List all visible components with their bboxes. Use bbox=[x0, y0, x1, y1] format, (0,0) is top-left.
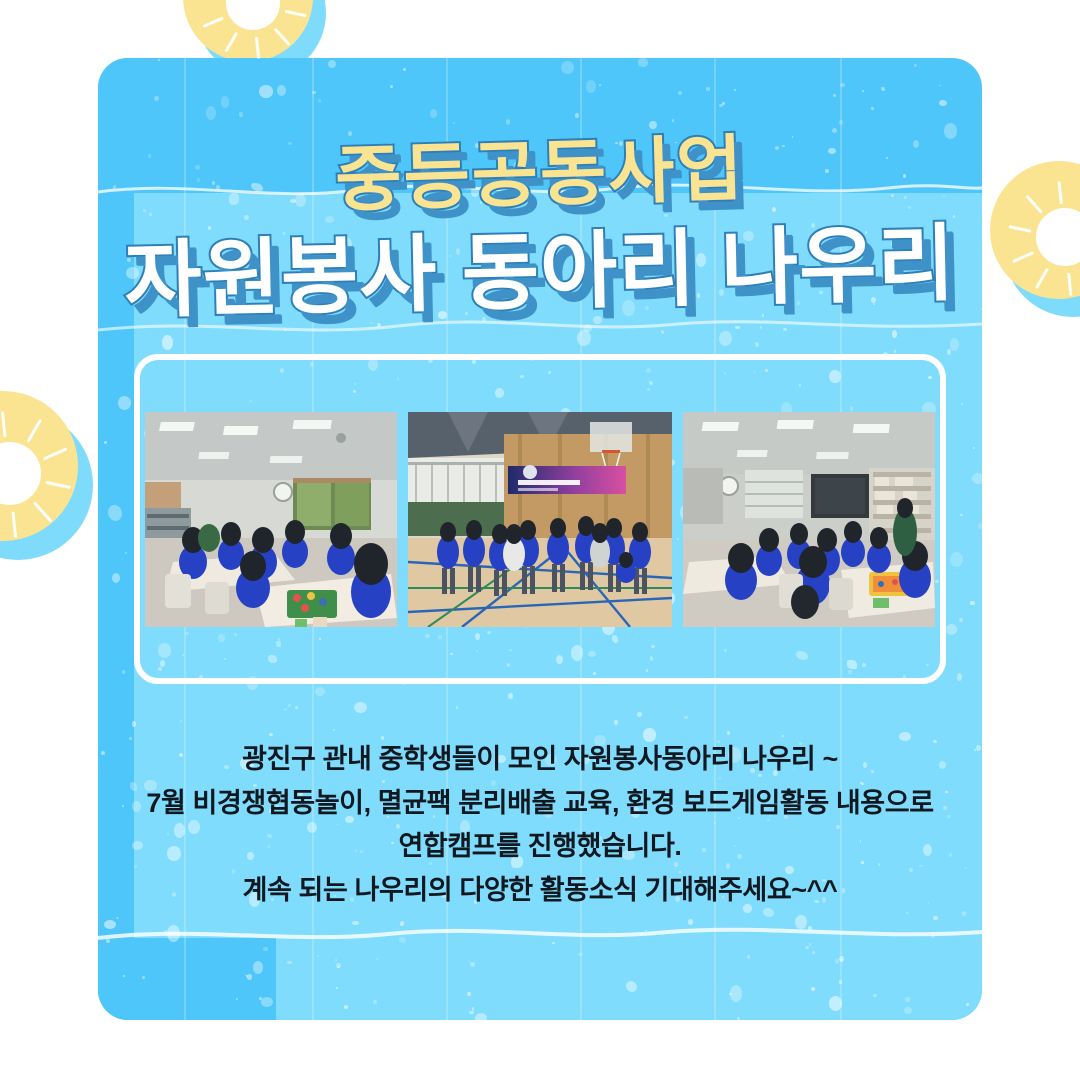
foam-bubble bbox=[284, 708, 287, 711]
swim-ring-right bbox=[996, 168, 1080, 306]
foam-bubble bbox=[970, 601, 975, 605]
body-line-1: 광진구 관내 중학생들이 모인 자원봉사동아리 나우리 ~ bbox=[98, 738, 982, 782]
foam-bubble bbox=[727, 731, 730, 735]
foam-bubble bbox=[318, 99, 321, 103]
foam-bubble bbox=[871, 107, 875, 110]
body-line-2: 7월 비경쟁협동놀이, 멸균팩 분리배출 교육, 환경 보드게임활동 내용으로 bbox=[98, 782, 982, 826]
foam-bubble bbox=[336, 963, 340, 968]
foam-bubble bbox=[782, 735, 784, 737]
foam-bubble bbox=[973, 447, 975, 450]
foam-bubble bbox=[904, 1007, 912, 1015]
foam-bubble bbox=[108, 505, 122, 521]
foam-bubble bbox=[456, 706, 458, 708]
foam-bubble bbox=[335, 959, 337, 961]
foam-bubble bbox=[678, 91, 682, 95]
foam-bubble bbox=[706, 87, 709, 90]
foam-bubble bbox=[829, 996, 842, 1011]
foam-bubble bbox=[737, 1017, 739, 1020]
swim-ring-left bbox=[0, 398, 84, 548]
foam-bubble bbox=[939, 100, 947, 107]
poster-title-line-1: 중등공동사업 bbox=[98, 126, 982, 226]
water-wave-line-bottom bbox=[98, 914, 982, 954]
foam-bubble bbox=[978, 523, 982, 529]
foam-bubble bbox=[719, 104, 723, 107]
foam-bubble bbox=[328, 60, 336, 68]
foam-bubble bbox=[390, 85, 393, 88]
foam-bubble bbox=[467, 992, 471, 996]
photo-2-illustration bbox=[408, 412, 672, 627]
foam-bubble bbox=[561, 61, 574, 74]
foam-bubble bbox=[403, 68, 406, 71]
photo-gallery-frame bbox=[134, 354, 946, 684]
foam-bubble bbox=[730, 985, 743, 1002]
foam-bubble bbox=[684, 716, 688, 719]
foam-bubble bbox=[269, 733, 273, 736]
photo-3-illustration bbox=[683, 412, 935, 627]
foam-bubble bbox=[939, 85, 941, 86]
foam-bubble bbox=[956, 573, 958, 575]
foam-bubble bbox=[287, 961, 292, 965]
foam-bubble bbox=[960, 514, 962, 517]
foam-bubble bbox=[638, 58, 648, 66]
foam-bubble bbox=[253, 961, 264, 974]
foam-bubble bbox=[158, 59, 160, 62]
foam-bubble bbox=[775, 970, 777, 972]
foam-bubble bbox=[508, 693, 513, 699]
foam-bubble bbox=[905, 997, 910, 1001]
foam-bubble bbox=[277, 85, 286, 96]
photo-1-illustration bbox=[145, 412, 397, 627]
foam-bubble bbox=[315, 687, 325, 696]
foam-bubble bbox=[469, 1011, 474, 1015]
foam-bubble bbox=[344, 1005, 348, 1009]
photo-row bbox=[140, 360, 940, 678]
body-line-4: 계속 되는 나우리의 다양한 활동소식 기대해주세요~^^ bbox=[98, 869, 982, 913]
foam-bubble bbox=[259, 85, 273, 97]
foam-bubble bbox=[599, 84, 601, 86]
foam-bubble bbox=[239, 112, 242, 116]
foam-bubble bbox=[637, 712, 642, 717]
foam-bubble bbox=[221, 96, 230, 108]
foam-bubble bbox=[475, 1013, 487, 1020]
foam-bubble bbox=[142, 976, 145, 979]
foam-bubble bbox=[946, 624, 957, 634]
foam-bubble bbox=[950, 552, 963, 568]
foam-bubble bbox=[472, 1007, 475, 1011]
foam-bubble bbox=[132, 721, 137, 727]
foam-bubble bbox=[453, 122, 455, 125]
foam-bubble bbox=[862, 90, 864, 92]
foam-bubble bbox=[649, 121, 657, 130]
foam-bubble bbox=[959, 618, 963, 622]
foam-bubble bbox=[430, 109, 438, 118]
foam-bubble bbox=[894, 350, 896, 353]
foam-bubble bbox=[373, 1000, 377, 1004]
foam-bubble bbox=[833, 94, 836, 97]
foam-bubble bbox=[336, 987, 338, 989]
foam-bubble bbox=[125, 552, 127, 554]
foam-bubble bbox=[672, 119, 675, 122]
foam-bubble bbox=[811, 987, 815, 991]
poster-root: 중등공동사업 자원봉사 동아리 나우리 bbox=[0, 0, 1080, 1080]
foam-bubble bbox=[961, 403, 963, 405]
foam-bubble bbox=[957, 673, 962, 680]
poster-title-line-2: 자원봉사 동아리 나우리 bbox=[98, 218, 982, 325]
foam-bubble bbox=[236, 998, 238, 1000]
foam-bubble bbox=[317, 955, 319, 957]
foam-bubble bbox=[914, 64, 917, 66]
body-line-3: 연합캠프를 진행했습니다. bbox=[98, 825, 982, 869]
photo-gym-cooperative-play[interactable] bbox=[408, 412, 672, 627]
foam-bubble bbox=[839, 980, 842, 983]
foam-bubble bbox=[123, 975, 125, 978]
foam-bubble bbox=[839, 956, 843, 962]
foam-bubble bbox=[972, 473, 982, 484]
foam-bubble bbox=[261, 997, 273, 1006]
foam-bubble bbox=[354, 702, 367, 713]
foam-bubble bbox=[881, 87, 884, 91]
photo-classroom-boardgame[interactable] bbox=[683, 412, 935, 627]
foam-bubble bbox=[206, 106, 216, 120]
foam-bubble bbox=[122, 670, 125, 675]
foam-bubble bbox=[734, 89, 736, 91]
poster-card: 중등공동사업 자원봉사 동아리 나우리 bbox=[98, 58, 982, 1020]
foam-bubble bbox=[180, 720, 182, 722]
foam-bubble bbox=[376, 958, 378, 960]
photo-library-boardgame[interactable] bbox=[145, 412, 397, 627]
foam-bubble bbox=[112, 573, 120, 583]
poster-body-text: 광진구 관내 중학생들이 모인 자원봉사동아리 나우리 ~ 7월 비경쟁협동놀이… bbox=[98, 738, 982, 913]
foam-bubble bbox=[118, 396, 131, 410]
foam-bubble bbox=[947, 349, 951, 354]
foam-bubble bbox=[614, 720, 618, 725]
foam-bubble bbox=[348, 131, 353, 136]
foam-bubble bbox=[470, 962, 475, 967]
foam-bubble bbox=[295, 706, 298, 708]
foam-bubble bbox=[575, 113, 579, 118]
foam-bubble bbox=[506, 119, 510, 125]
foam-bubble bbox=[840, 83, 845, 87]
title-block: 중등공동사업 자원봉사 동아리 나우리 bbox=[98, 138, 982, 316]
foam-bubble bbox=[839, 120, 843, 125]
foam-bubble bbox=[333, 729, 335, 731]
foam-bubble bbox=[288, 704, 291, 707]
foam-bubble bbox=[873, 994, 876, 997]
foam-bubble bbox=[626, 981, 638, 992]
foam-bubble bbox=[966, 1003, 970, 1006]
foam-bubble bbox=[247, 974, 251, 979]
foam-bubble bbox=[154, 96, 159, 101]
foam-bubble bbox=[312, 91, 316, 94]
foam-bubble bbox=[104, 441, 108, 444]
foam-bubble bbox=[747, 955, 751, 959]
foam-bubble bbox=[586, 80, 596, 93]
